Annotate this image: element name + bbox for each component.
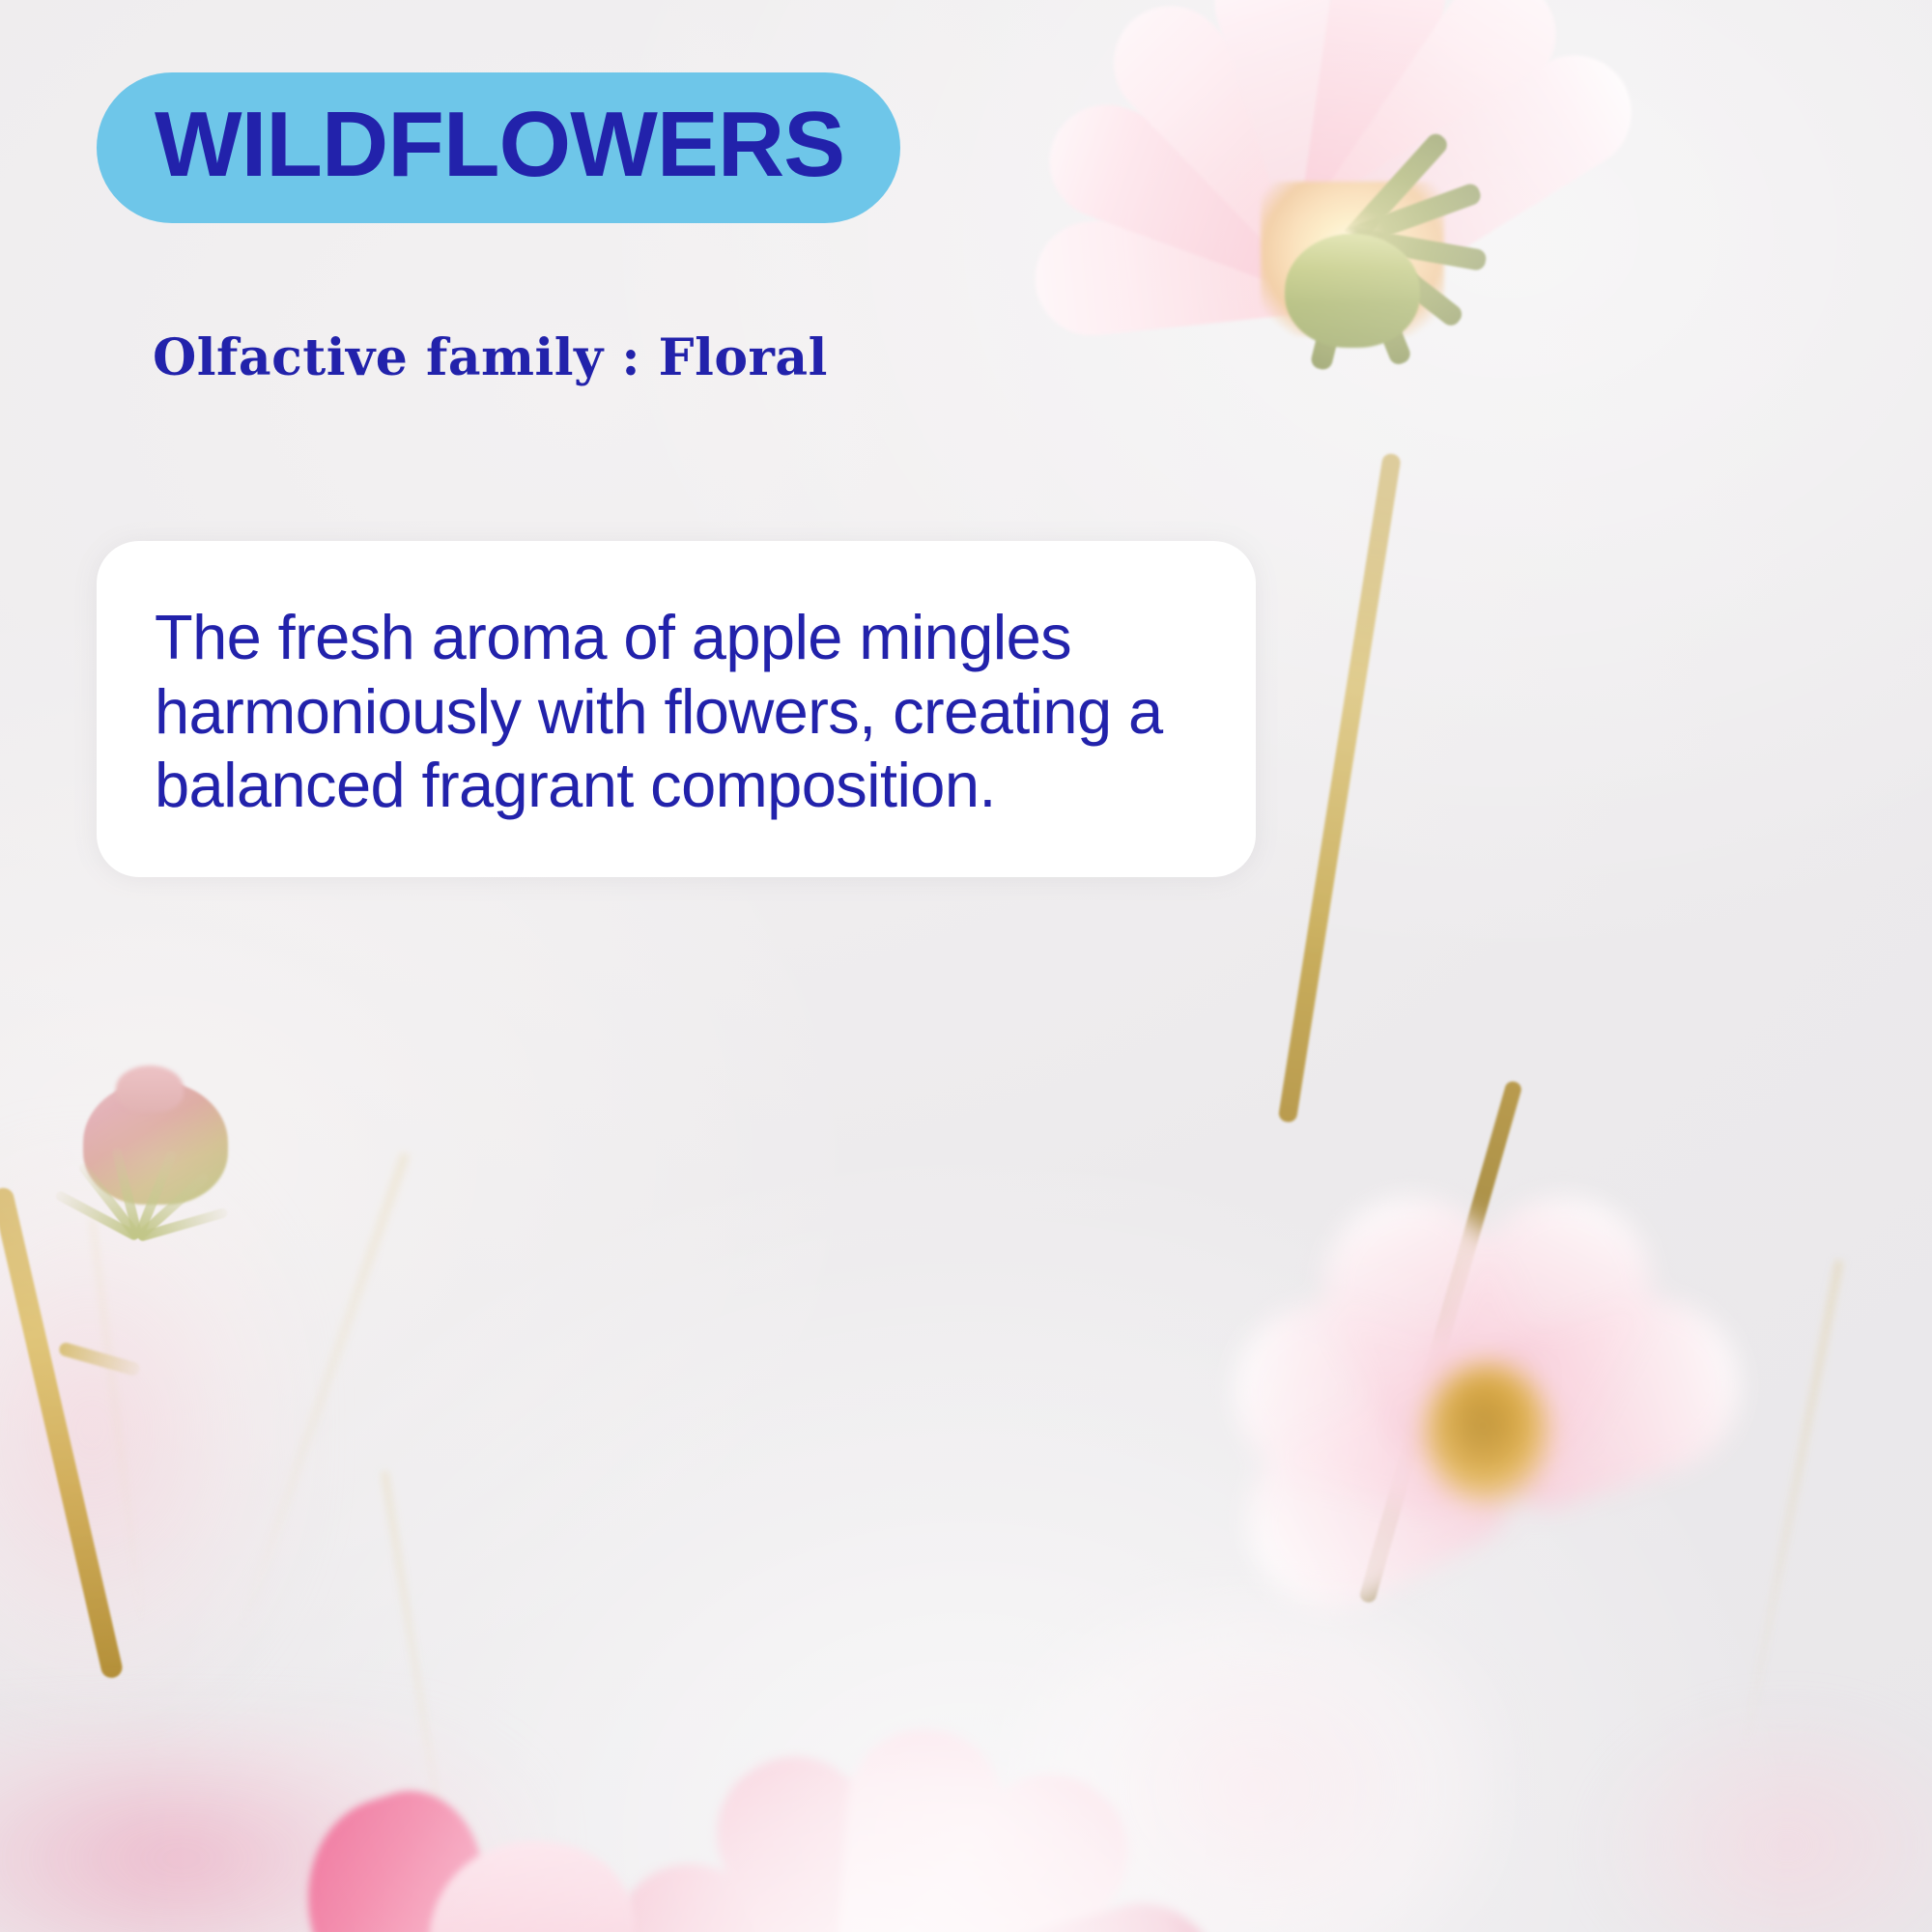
description-text: The fresh aroma of apple mingles harmoni… <box>155 601 1212 823</box>
poster-canvas: WILDFLOWERS Olfactive family : Floral Th… <box>0 0 1932 1932</box>
title-badge: WILDFLOWERS <box>97 72 900 223</box>
description-card: The fresh aroma of apple mingles harmoni… <box>97 541 1256 877</box>
page-title: WILDFLOWERS <box>155 96 844 194</box>
olfactive-family-subtitle: Olfactive family : Floral <box>153 328 828 387</box>
content-overlay: WILDFLOWERS Olfactive family : Floral Th… <box>0 0 1932 1932</box>
